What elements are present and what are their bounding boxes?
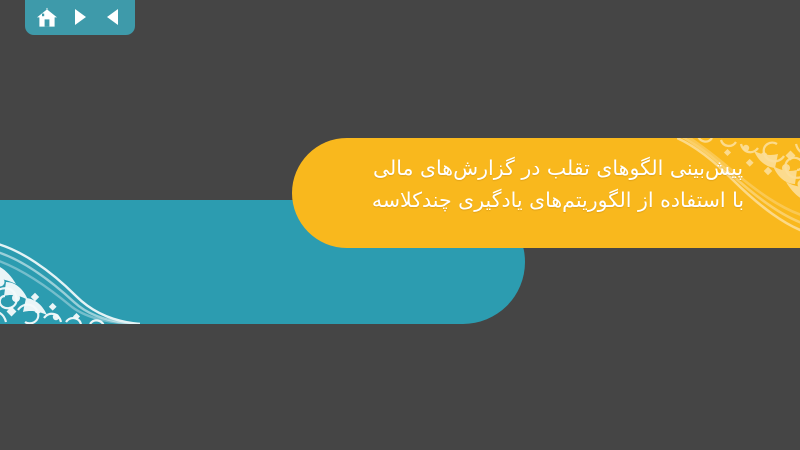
presentation-slide: پیش‌بینی الگوهای تقلب در گزارش‌های مالی … bbox=[0, 0, 800, 450]
slide-title: پیش‌بینی الگوهای تقلب در گزارش‌های مالی … bbox=[332, 152, 784, 216]
arabesque-corner-ornament bbox=[0, 224, 140, 324]
triangle-right-icon bbox=[71, 7, 89, 27]
next-slide-button[interactable] bbox=[67, 5, 93, 29]
title-banner: پیش‌بینی الگوهای تقلب در گزارش‌های مالی … bbox=[292, 138, 800, 248]
slide-navigation-bar bbox=[25, 0, 135, 35]
triangle-left-icon bbox=[104, 7, 122, 27]
home-icon bbox=[36, 7, 58, 28]
home-slide-button[interactable] bbox=[34, 5, 60, 29]
previous-slide-button[interactable] bbox=[100, 5, 126, 29]
title-line-1: پیش‌بینی الگوهای تقلب در گزارش‌های مالی bbox=[332, 152, 784, 184]
title-line-2: با استفاده از الگوریتم‌های یادگیری چندکل… bbox=[332, 184, 784, 216]
